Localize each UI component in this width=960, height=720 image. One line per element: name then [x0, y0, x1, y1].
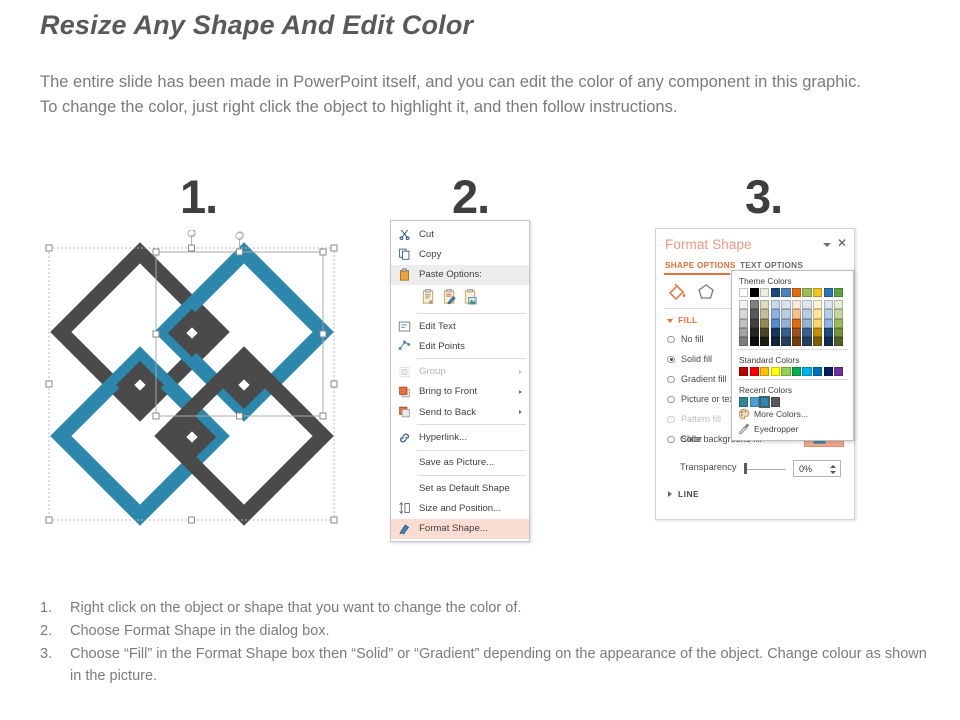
color-swatch[interactable]	[834, 337, 843, 346]
color-swatch[interactable]	[760, 397, 769, 406]
diamond-blue-bottomleft	[61, 357, 219, 515]
edit-text-icon	[397, 319, 412, 334]
color-swatch[interactable]	[813, 328, 822, 337]
radio-label: Solid fill	[681, 354, 712, 364]
color-swatch[interactable]	[739, 337, 748, 346]
recent-colors-label: Recent Colors	[732, 383, 853, 397]
group-icon	[397, 364, 412, 379]
menu-item-label: Set as Default Shape	[419, 483, 510, 494]
more-colors-label: More Colors...	[754, 409, 808, 419]
color-swatch[interactable]	[739, 367, 748, 376]
menu-item-copy[interactable]: Copy	[391, 244, 529, 264]
menu-item-label: Copy	[419, 249, 441, 260]
list-item: 1. Right click on the object or shape th…	[40, 597, 940, 619]
list-item-number: 3.	[40, 643, 70, 687]
tab-text-options[interactable]: TEXT OPTIONS	[740, 261, 803, 270]
submenu-arrow-icon	[519, 390, 522, 394]
menu-item-format-shape[interactable]: Format Shape...	[391, 519, 529, 539]
intro-paragraph: The entire slide has been made in PowerP…	[40, 70, 868, 120]
color-swatch[interactable]	[802, 319, 811, 328]
radio-dot	[667, 396, 675, 404]
menu-item-label: Edit Points	[419, 341, 465, 352]
chevron-down-icon[interactable]	[823, 243, 831, 247]
color-swatch[interactable]	[739, 300, 748, 309]
copy-icon	[397, 247, 412, 262]
color-swatch[interactable]	[792, 288, 801, 297]
transparency-value: 0%	[799, 464, 812, 474]
menu-item-label: Send to Back	[419, 407, 476, 418]
diamond-small-top	[177, 318, 207, 348]
diamond-dark-bottomright	[165, 357, 323, 515]
color-swatch[interactable]	[792, 337, 801, 346]
theme-colors-grid[interactable]	[732, 288, 853, 346]
eyedropper-label: Eyedropper	[754, 424, 798, 434]
color-swatch[interactable]	[834, 309, 843, 318]
color-swatch[interactable]	[771, 337, 780, 346]
menu-item-save-as-picture[interactable]: Save as Picture...	[391, 453, 529, 473]
hyperlink-icon	[397, 430, 412, 445]
list-item-text: Choose Format Shape in the dialog box.	[70, 620, 940, 642]
color-swatch[interactable]	[781, 367, 790, 376]
color-swatch[interactable]	[824, 337, 833, 346]
picker-separator	[737, 349, 848, 350]
color-swatch[interactable]	[813, 337, 822, 346]
color-swatch[interactable]	[760, 288, 769, 297]
transparency-slider-knob[interactable]	[744, 463, 747, 474]
color-swatch[interactable]	[771, 319, 780, 328]
color-swatch[interactable]	[781, 309, 790, 318]
menu-item-label: Edit Text	[419, 321, 456, 332]
color-swatch[interactable]	[771, 328, 780, 337]
tab-shape-options[interactable]: SHAPE OPTIONS	[665, 261, 736, 270]
color-swatch[interactable]	[760, 367, 769, 376]
color-swatch[interactable]	[760, 319, 769, 328]
color-swatch[interactable]	[771, 367, 780, 376]
color-swatch[interactable]	[781, 328, 790, 337]
radio-gradient-fill[interactable]: Gradient fill	[681, 374, 727, 384]
bring-to-front-icon	[397, 384, 412, 399]
page-title: Resize Any Shape And Edit Color	[40, 10, 473, 41]
diamond-small-left	[125, 370, 155, 400]
color-swatch[interactable]	[750, 319, 759, 328]
color-swatch[interactable]	[771, 309, 780, 318]
menu-item-paste-options[interactable]: Paste Options:	[391, 265, 529, 285]
radio-dot	[667, 356, 675, 364]
eyedropper-item[interactable]: Eyedropper	[732, 422, 853, 437]
color-swatch[interactable]	[813, 309, 822, 318]
context-menu[interactable]: Cut Copy Paste Options:	[390, 220, 530, 542]
menu-item-label: Hyperlink...	[419, 432, 467, 443]
spinner-down-icon[interactable]	[830, 471, 836, 474]
color-swatch[interactable]	[750, 309, 759, 318]
color-swatch[interactable]	[760, 337, 769, 346]
paste-keep-source-icon[interactable]: a	[421, 289, 436, 305]
list-item: 3. Choose “Fill” in the Format Shape box…	[40, 643, 940, 687]
menu-separator	[417, 424, 526, 425]
radio-pattern-fill: Pattern fill	[681, 414, 721, 424]
diamond-shape-graphic[interactable]	[40, 230, 345, 530]
menu-item-bring-to-front[interactable]: Bring to Front	[391, 382, 529, 402]
color-swatch[interactable]	[802, 309, 811, 318]
color-picker-flyout[interactable]: Theme Colors Standard Colors Recent Colo…	[731, 270, 854, 441]
menu-item-label: Save as Picture...	[419, 457, 494, 468]
radio-dot	[667, 336, 675, 344]
transparency-label: Transparency	[680, 462, 737, 472]
color-swatch[interactable]	[739, 309, 748, 318]
color-swatch[interactable]	[760, 309, 769, 318]
menu-item-label: Cut	[419, 229, 434, 240]
step-number-2: 2.	[452, 173, 489, 220]
step-number-1: 1.	[180, 173, 217, 220]
submenu-arrow-icon	[519, 410, 522, 414]
diamond-small-right	[229, 370, 259, 400]
list-item-text: Right click on the object or shape that …	[70, 597, 940, 619]
color-swatch[interactable]	[792, 328, 801, 337]
radio-dot	[667, 416, 675, 424]
color-swatch[interactable]	[750, 367, 759, 376]
slide-canvas: Resize Any Shape And Edit Color The enti…	[0, 0, 960, 720]
color-swatch[interactable]	[824, 309, 833, 318]
section-line-label[interactable]: LINE	[678, 489, 699, 499]
color-swatch[interactable]	[792, 319, 801, 328]
color-swatch[interactable]	[813, 367, 822, 376]
color-swatch[interactable]	[824, 328, 833, 337]
color-swatch[interactable]	[750, 328, 759, 337]
color-swatch[interactable]	[739, 397, 748, 406]
close-icon[interactable]: ✕	[837, 237, 847, 249]
color-swatch[interactable]	[771, 300, 780, 309]
color-swatch[interactable]	[750, 288, 759, 297]
standard-colors-row[interactable]	[732, 367, 853, 376]
color-swatch[interactable]	[802, 367, 811, 376]
section-fill-label: FILL	[678, 315, 698, 325]
color-swatch[interactable]	[750, 300, 759, 309]
eyedropper-icon	[738, 423, 750, 435]
fill-bucket-icon[interactable]	[666, 281, 688, 303]
color-swatch[interactable]	[813, 300, 822, 309]
format-shape-icon	[397, 521, 412, 536]
radio-dot	[667, 436, 675, 444]
menu-item-edit-text[interactable]: Edit Text	[391, 316, 529, 336]
list-item-number: 2.	[40, 620, 70, 642]
paste-options-row[interactable]: a	[391, 285, 529, 311]
color-swatch[interactable]	[834, 328, 843, 337]
color-swatch[interactable]	[834, 300, 843, 309]
color-swatch[interactable]	[824, 300, 833, 309]
chevron-down-icon[interactable]	[667, 319, 673, 323]
radio-dot	[667, 376, 675, 384]
recent-colors-row[interactable]	[732, 397, 853, 406]
menu-item-group: Group	[391, 361, 529, 381]
diamond-small-bottom	[177, 422, 207, 452]
color-swatch[interactable]	[750, 397, 759, 406]
paste-merge-formatting-icon[interactable]	[442, 289, 457, 305]
menu-item-label: Format Shape...	[419, 523, 488, 534]
clipboard-icon	[397, 267, 412, 282]
menu-item-label: Paste Options:	[419, 269, 482, 280]
size-position-icon	[397, 501, 412, 516]
color-swatch[interactable]	[802, 328, 811, 337]
color-swatch[interactable]	[792, 309, 801, 318]
menu-item-label: Size and Position...	[419, 503, 501, 514]
color-swatch[interactable]	[781, 319, 790, 328]
transparency-slider-track[interactable]	[746, 469, 786, 470]
send-to-back-icon	[397, 405, 412, 420]
color-swatch[interactable]	[834, 288, 843, 297]
color-swatch[interactable]	[802, 337, 811, 346]
color-swatch[interactable]	[760, 328, 769, 337]
submenu-arrow-icon	[519, 370, 522, 374]
color-swatch[interactable]	[802, 288, 811, 297]
color-swatch[interactable]	[739, 288, 748, 297]
chevron-right-icon[interactable]	[668, 491, 672, 497]
standard-colors-label: Standard Colors	[732, 353, 853, 367]
menu-item-edit-points[interactable]: Edit Points	[391, 336, 529, 356]
theme-colors-label: Theme Colors	[732, 274, 853, 288]
color-swatch[interactable]	[760, 300, 769, 309]
format-shape-title: Format Shape	[665, 237, 752, 252]
color-swatch[interactable]	[824, 367, 833, 376]
radio-label: Gradient fill	[681, 374, 727, 384]
color-swatch[interactable]	[813, 319, 822, 328]
outer-selection-frame	[46, 230, 337, 523]
menu-item-label: Group	[419, 366, 446, 377]
menu-item-size-and-position[interactable]: Size and Position...	[391, 498, 529, 518]
paste-picture-icon[interactable]	[463, 289, 478, 305]
radio-label: Pattern fill	[681, 414, 721, 424]
transparency-value-input[interactable]: 0%	[793, 460, 841, 477]
effects-pentagon-icon[interactable]	[695, 281, 717, 303]
menu-separator	[417, 313, 526, 314]
picker-separator	[737, 379, 848, 380]
menu-separator	[417, 450, 526, 451]
edit-points-icon	[397, 339, 412, 354]
diamond-dark-topleft	[61, 253, 219, 411]
menu-item-send-to-back[interactable]: Send to Back	[391, 402, 529, 422]
instructions-list: 1. Right click on the object or shape th…	[40, 597, 940, 688]
color-swatch[interactable]	[813, 288, 822, 297]
menu-separator	[417, 358, 526, 359]
color-swatch[interactable]	[781, 288, 790, 297]
color-swatch[interactable]	[792, 367, 801, 376]
color-label: Color	[680, 434, 702, 444]
color-swatch[interactable]	[750, 337, 759, 346]
spinner-up-icon[interactable]	[830, 465, 836, 468]
color-swatch[interactable]	[792, 300, 801, 309]
menu-item-label: Bring to Front	[419, 386, 477, 397]
radio-solid-fill[interactable]: Solid fill	[681, 354, 712, 364]
radio-no-fill[interactable]: No fill	[681, 334, 704, 344]
scissors-icon	[397, 227, 412, 242]
list-item: 2. Choose Format Shape in the dialog box…	[40, 620, 940, 642]
color-swatch[interactable]	[739, 328, 748, 337]
more-colors-item[interactable]: More Colors...	[732, 407, 853, 422]
color-swatch[interactable]	[802, 300, 811, 309]
step-number-3: 3.	[745, 173, 782, 220]
color-swatch[interactable]	[824, 319, 833, 328]
menu-item-set-as-default-shape[interactable]: Set as Default Shape	[391, 478, 529, 498]
spinner-buttons[interactable]	[828, 462, 838, 477]
diamond-blue-topright	[165, 253, 323, 411]
color-swatch[interactable]	[739, 319, 748, 328]
menu-item-hyperlink[interactable]: Hyperlink...	[391, 427, 529, 447]
color-swatch[interactable]	[771, 288, 780, 297]
list-item-number: 1.	[40, 597, 70, 619]
radio-label: No fill	[681, 334, 704, 344]
color-swatch[interactable]	[834, 319, 843, 328]
color-swatch[interactable]	[781, 337, 790, 346]
menu-item-cut[interactable]: Cut	[391, 224, 529, 244]
color-swatch[interactable]	[824, 288, 833, 297]
palette-icon	[738, 408, 750, 420]
color-swatch[interactable]	[834, 367, 843, 376]
list-item-text: Choose “Fill” in the Format Shape box th…	[70, 643, 940, 687]
menu-separator	[417, 475, 526, 476]
tab-active-underline	[664, 273, 730, 275]
color-swatch[interactable]	[781, 300, 790, 309]
color-swatch[interactable]	[771, 397, 780, 406]
